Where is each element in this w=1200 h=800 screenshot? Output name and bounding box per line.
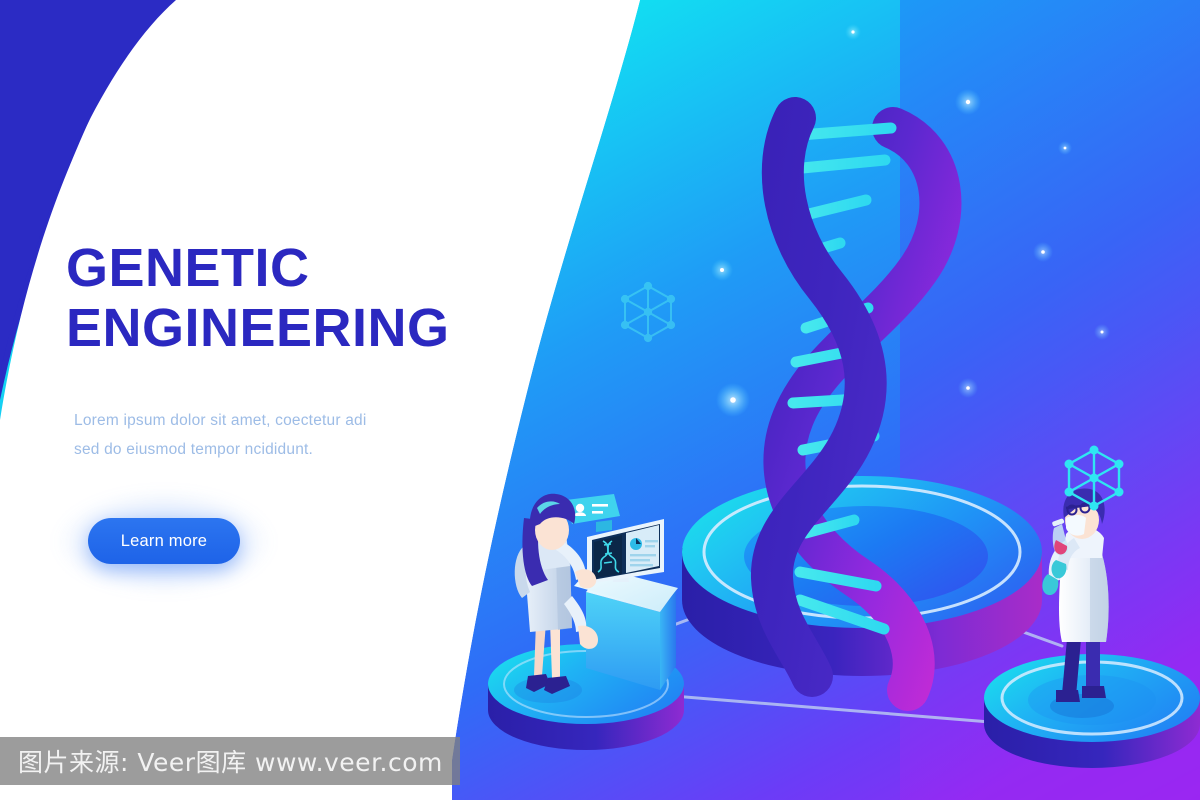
sparkle — [845, 24, 861, 40]
sparkle — [958, 378, 978, 398]
sparkle — [1033, 242, 1053, 262]
page-subtitle-line-1: Lorem ipsum dolor sit amet, coectetur ad… — [74, 412, 367, 429]
sparkle — [955, 89, 981, 115]
sparkle — [711, 259, 733, 281]
sparkle — [1094, 324, 1110, 340]
sparkle — [716, 383, 750, 417]
page-subtitle: Lorem ipsum dolor sit amet, coectetur ad… — [74, 407, 404, 464]
dna-rung — [800, 128, 891, 135]
sparkle — [1058, 141, 1072, 155]
hero-banner: GENETIC ENGINEERING Lorem ipsum dolor si… — [0, 0, 1200, 800]
scientist-shoe — [1082, 686, 1106, 698]
page-title-line-1: GENETIC — [66, 238, 486, 298]
page-title: GENETIC ENGINEERING — [66, 238, 486, 359]
watermark-text: 图片来源: Veer图库 www.veer.com — [0, 743, 443, 779]
hero-text-block: GENETIC ENGINEERING Lorem ipsum dolor si… — [66, 238, 486, 464]
watermark-bar: 图片来源: Veer图库 www.veer.com — [0, 737, 460, 785]
learn-more-button[interactable]: Learn more — [88, 518, 240, 564]
scientist-shoe — [1056, 690, 1080, 702]
monitor-data-panel — [626, 525, 659, 573]
cta-container: Learn more — [88, 518, 240, 564]
page-title-line-2: ENGINEERING — [66, 298, 486, 358]
page-subtitle-line-2: sed do eiusmod tempor ncididunt. — [74, 441, 313, 458]
